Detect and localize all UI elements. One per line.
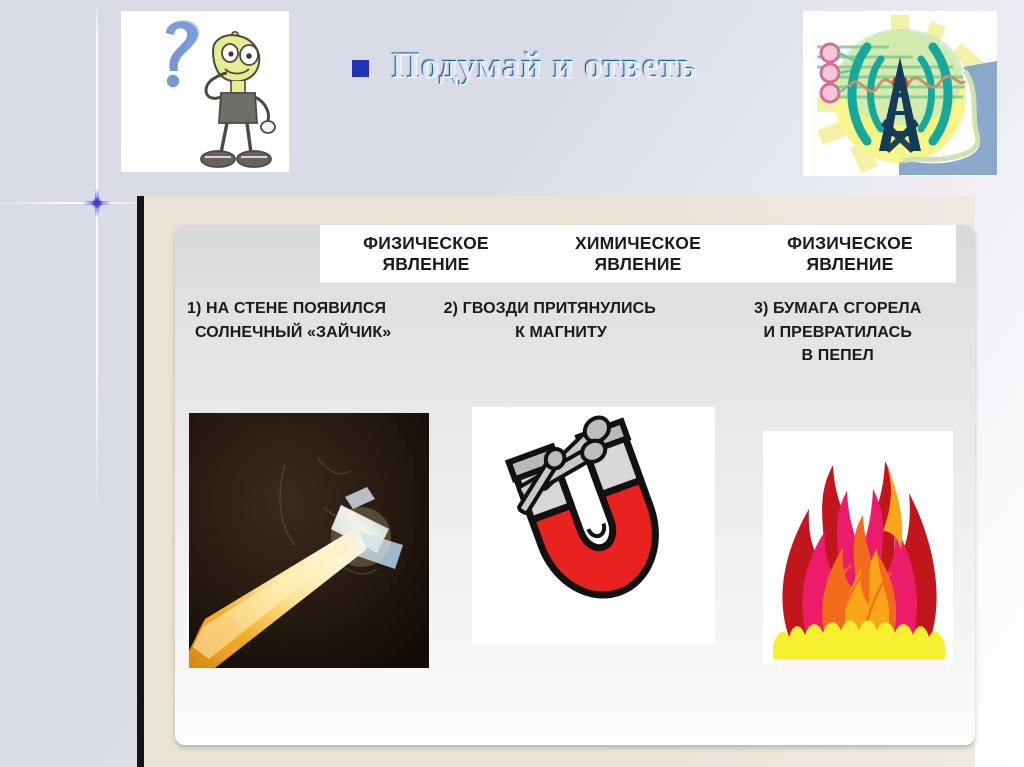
thinking-character-image: [121, 11, 289, 172]
magnet-image: [472, 407, 715, 645]
category-header-chemical: ХИМИЧЕСКОЕ ЯВЛЕНИЕ: [532, 225, 744, 283]
statement-line1: 2) ГВОЗДИ ПРИТЯНУЛИСЬ: [444, 297, 707, 321]
radio-tower-logo-illustration: [803, 11, 997, 176]
statement-line2: К МАГНИТУ: [444, 321, 707, 345]
statement-line2: СОЛНЕЧНЫЙ «ЗАЙЧИК»: [181, 321, 444, 345]
header-line2: ЯВЛЕНИЕ: [382, 254, 469, 275]
statement-item-1: 1) НА СТЕНЕ ПОЯВИЛСЯ СОЛНЕЧНЫЙ «ЗАЙЧИК»: [181, 297, 444, 344]
content-card: ФИЗИЧЕСКОЕ ЯВЛЕНИЕ ХИМИЧЕСКОЕ ЯВЛЕНИЕ ФИ…: [175, 225, 975, 745]
thinking-character-illustration: [121, 11, 289, 172]
broadcast-logo-image: [803, 11, 997, 176]
horseshoe-magnet-illustration: [472, 407, 715, 645]
header-line1: ФИЗИЧЕСКОЕ: [363, 233, 489, 254]
statements-row: 1) НА СТЕНЕ ПОЯВИЛСЯ СОЛНЕЧНЫЙ «ЗАЙЧИК» …: [181, 297, 969, 368]
statement-item-2: 2) ГВОЗДИ ПРИТЯНУЛИСЬ К МАГНИТУ: [444, 297, 707, 344]
page-title: Подумай и ответь: [391, 44, 697, 87]
bullet-square-icon: [352, 60, 369, 77]
slide-canvas: Подумай и ответь ФИЗИЧЕСКОЕ ЯВЛЕНИЕ ХИМИ…: [0, 0, 1024, 767]
header-line2: ЯВЛЕНИЕ: [806, 254, 893, 275]
category-header-physical-2: ФИЗИЧЕСКОЕ ЯВЛЕНИЕ: [744, 225, 956, 283]
statement-item-3: 3) БУМАГА СГОРЕЛА И ПРЕВРАТИЛАСЬ В ПЕПЕЛ: [706, 297, 969, 368]
sunbeam-photo-image: [189, 413, 429, 668]
fire-flames-illustration: [763, 431, 953, 663]
slide-title-row: Подумай и ответь: [352, 44, 697, 87]
statement-line1: 1) НА СТЕНЕ ПОЯВИЛСЯ: [181, 297, 444, 321]
vertical-guide-line: [96, 0, 98, 767]
header-line1: ХИМИЧЕСКОЕ: [575, 233, 701, 254]
statement-line1: 3) БУМАГА СГОРЕЛА: [706, 297, 969, 321]
fire-image: [763, 431, 953, 663]
sunbeam-photo-illustration: [189, 413, 429, 668]
header-line1: ФИЗИЧЕСКОЕ: [787, 233, 913, 254]
statement-line3: В ПЕПЕЛ: [706, 344, 969, 368]
header-line2: ЯВЛЕНИЕ: [594, 254, 681, 275]
category-header-band: ФИЗИЧЕСКОЕ ЯВЛЕНИЕ ХИМИЧЕСКОЕ ЯВЛЕНИЕ ФИ…: [320, 225, 956, 283]
category-header-physical-1: ФИЗИЧЕСКОЕ ЯВЛЕНИЕ: [320, 225, 532, 283]
statement-line2: И ПРЕВРАТИЛАСЬ: [706, 321, 969, 345]
